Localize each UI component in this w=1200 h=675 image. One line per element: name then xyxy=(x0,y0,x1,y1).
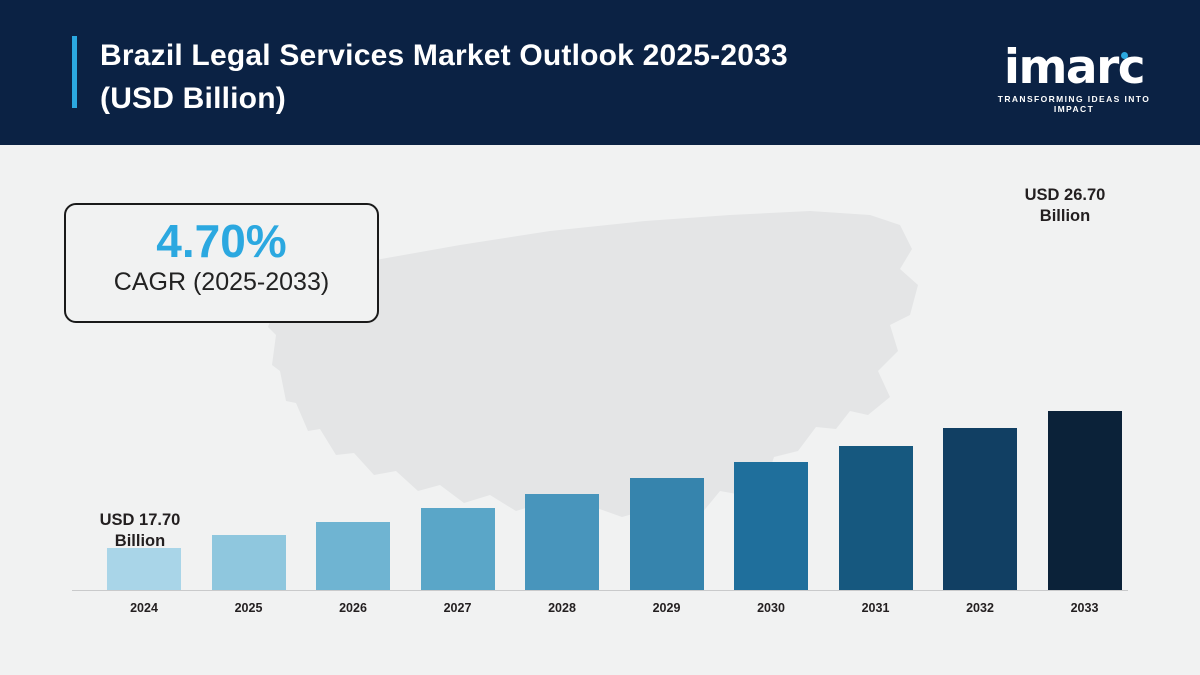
x-tick-label-2029: 2029 xyxy=(630,601,704,615)
bar-2030 xyxy=(734,462,808,590)
bar-2032 xyxy=(943,428,1017,590)
imarc-logo: imarc TRANSFORMING IDEAS INTO IMPACT xyxy=(984,44,1164,114)
logo-tagline: TRANSFORMING IDEAS INTO IMPACT xyxy=(984,94,1164,114)
logo-text: imarc xyxy=(1004,40,1144,95)
x-tick-label-2027: 2027 xyxy=(421,601,495,615)
bar-2027 xyxy=(421,508,495,590)
x-tick-label-2028: 2028 xyxy=(525,601,599,615)
bar-2033 xyxy=(1048,411,1122,590)
page-title: Brazil Legal Services Market Outlook 202… xyxy=(100,34,870,120)
x-tick-label-2030: 2030 xyxy=(734,601,808,615)
x-tick-label-2024: 2024 xyxy=(107,601,181,615)
x-axis-line xyxy=(72,590,1128,591)
x-tick-label-2033: 2033 xyxy=(1048,601,1122,615)
bar-2031 xyxy=(839,446,913,590)
bar-2025 xyxy=(212,535,286,590)
bar-2028 xyxy=(525,494,599,590)
bar-2029 xyxy=(630,478,704,590)
logo-wordmark: imarc xyxy=(984,44,1164,91)
header-bar: Brazil Legal Services Market Outlook 202… xyxy=(0,0,1200,145)
x-tick-label-2026: 2026 xyxy=(316,601,390,615)
chart-area: 4.70% CAGR (2025-2033) USD 17.70 Billion… xyxy=(0,145,1200,675)
bar-group: 2024202520262027202820292030203120322033 xyxy=(0,145,1200,675)
header-accent-bar xyxy=(72,36,77,108)
x-tick-label-2031: 2031 xyxy=(839,601,913,615)
x-tick-label-2025: 2025 xyxy=(212,601,286,615)
x-tick-label-2032: 2032 xyxy=(943,601,1017,615)
bar-2026 xyxy=(316,522,390,590)
infographic-page: Brazil Legal Services Market Outlook 202… xyxy=(0,0,1200,675)
bar-2024 xyxy=(107,548,181,590)
